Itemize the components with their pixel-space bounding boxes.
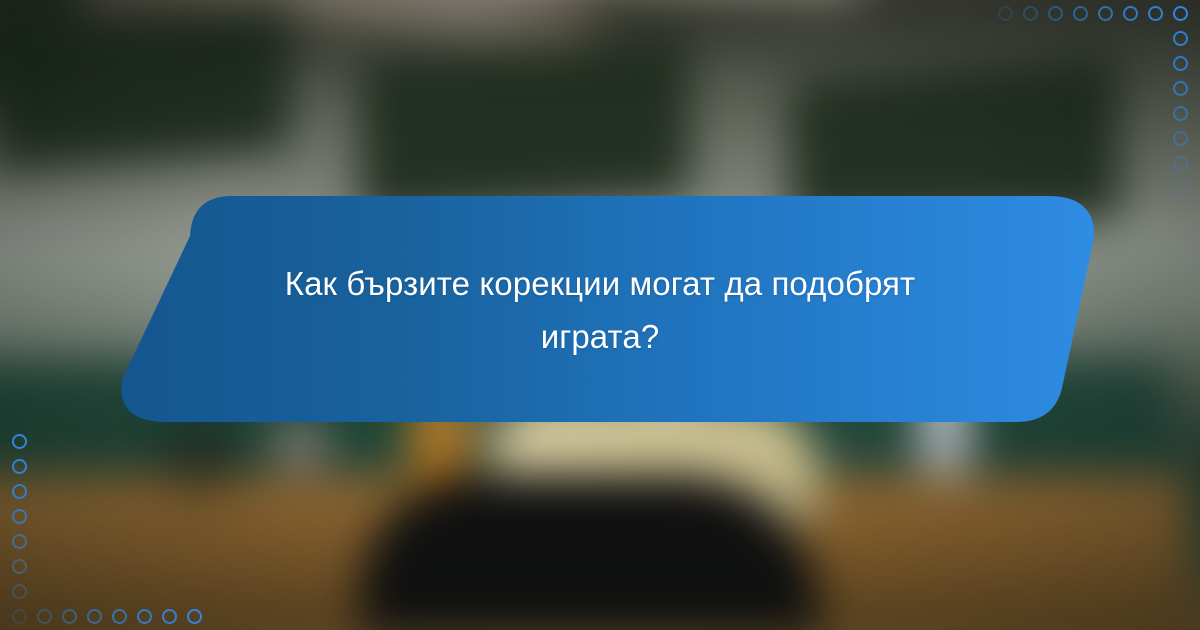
decorative-dot	[1073, 6, 1088, 21]
decorative-dot	[1173, 106, 1188, 121]
decorative-dot	[1023, 6, 1038, 21]
decorative-dot	[187, 609, 202, 624]
social-card-canvas: Как бързите корекции могат да подобрят и…	[0, 0, 1200, 630]
decorative-dot	[1173, 6, 1188, 21]
decorative-dot	[162, 609, 177, 624]
decorative-dot	[112, 609, 127, 624]
decorative-dot	[12, 434, 27, 449]
decorative-dot	[1173, 56, 1188, 71]
bubble-question-text: Как бързите корекции могат да подобрят и…	[250, 190, 950, 430]
decorative-dot	[1173, 131, 1188, 146]
decorative-dot	[12, 484, 27, 499]
decorative-dot	[1123, 6, 1138, 21]
decorative-dot	[12, 609, 27, 624]
wall-panel	[0, 0, 290, 174]
decorative-dot	[1173, 181, 1188, 196]
speech-bubble: Как бързите корекции могат да подобрят и…	[100, 190, 1100, 430]
decorative-dot	[1098, 6, 1113, 21]
decorative-dot	[12, 584, 27, 599]
decorative-dot	[37, 609, 52, 624]
decorative-dot	[998, 6, 1013, 21]
decorative-dot	[12, 559, 27, 574]
decorative-dot	[137, 609, 152, 624]
decorative-dot	[1173, 31, 1188, 46]
foreground-person-body	[360, 475, 820, 630]
decorative-dot	[87, 609, 102, 624]
decorative-dot	[1048, 6, 1063, 21]
decorative-dot	[62, 609, 77, 624]
decorative-dot	[1173, 81, 1188, 96]
decorative-dot	[12, 509, 27, 524]
decorative-dot	[12, 459, 27, 474]
decorative-dot	[1148, 6, 1163, 21]
decorative-dot	[12, 534, 27, 549]
decorative-dot	[1173, 156, 1188, 171]
